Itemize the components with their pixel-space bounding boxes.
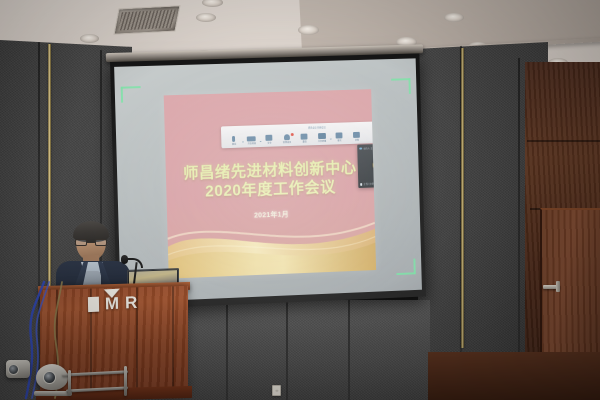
panel-seam <box>286 300 288 400</box>
toolbar-button-record[interactable]: 录制 <box>348 132 365 142</box>
share-screen-icon <box>318 133 326 139</box>
toolbar-button-share-screen[interactable]: 共享屏幕 <box>313 133 330 143</box>
eyeglasses-icon <box>75 239 107 246</box>
toolbar-button-mute[interactable]: 静音 <box>225 136 242 146</box>
participant-tile-header: 主持人 王伟 正在讲话 <box>359 145 376 151</box>
wall-outlet <box>272 385 281 396</box>
ceiling-downlight <box>80 34 99 43</box>
microphone-icon <box>232 136 235 142</box>
participants-icon <box>283 134 289 140</box>
conference-hall-scene: 腾讯会议 快捷会议 静音 开启视频 <box>0 0 600 400</box>
equipment-rail-post <box>124 366 127 396</box>
wall-trim-gold <box>461 48 464 348</box>
equipment-rail-post <box>68 370 71 396</box>
toolbar-label: 安全 <box>267 142 271 145</box>
wood-panel-seam <box>527 140 600 142</box>
camera-lens-icon <box>43 371 56 384</box>
slide-title-block: 师昌绪先进材料创新中心 2020年度工作会议 2021年1月 <box>166 158 375 225</box>
podium-groove <box>172 286 174 398</box>
presentation-slide: 腾讯会议 快捷会议 静音 开启视频 <box>164 89 376 279</box>
record-icon <box>353 132 360 138</box>
ptz-camera-left <box>6 356 36 382</box>
ceiling-vent-left <box>113 5 180 35</box>
toolbar-button-chat[interactable]: 聊天 <box>331 132 348 142</box>
toolbar-label: 邀请 <box>302 140 306 143</box>
toolbar-label: 共享屏幕 <box>318 140 326 143</box>
toolbar-label: 聊天 <box>337 139 341 142</box>
meeting-toolbar[interactable]: 腾讯会议 快捷会议 静音 开启视频 <box>221 120 376 148</box>
screen-surface: 腾讯会议 快捷会议 静音 开启视频 <box>114 58 422 302</box>
room-door[interactable] <box>540 208 600 358</box>
calibration-marker-icon <box>391 78 411 94</box>
door-handle[interactable] <box>543 285 560 289</box>
toolbar-button-invite[interactable]: 邀请 <box>296 133 313 143</box>
invite-icon <box>301 134 308 140</box>
participant-status-label: 主持人 王伟 正在讲话 <box>363 146 376 151</box>
speaking-indicator-icon <box>359 147 361 150</box>
toolbar-label: 静音 <box>232 143 236 146</box>
toolbar-button-participants[interactable]: 管理成员 <box>278 134 295 144</box>
camera-lens-icon <box>8 364 19 375</box>
panel-seam <box>226 300 228 400</box>
ceiling-downlight <box>444 13 464 22</box>
panel-seam <box>348 300 350 400</box>
microphone-icon <box>121 255 128 264</box>
calibration-marker-icon <box>396 259 416 275</box>
toolbar-label: 录制 <box>355 139 359 142</box>
ceiling-downlight <box>298 25 319 35</box>
notification-badge <box>291 133 294 136</box>
shield-icon <box>265 135 272 141</box>
camera-icon <box>247 136 256 142</box>
ceiling-downlight <box>196 13 216 22</box>
panel-seam <box>518 58 520 358</box>
toolbar-label: 开启视频 <box>247 142 255 145</box>
wood-baseboard <box>428 352 600 400</box>
meeting-session-title: 腾讯会议 快捷会议 <box>308 125 326 130</box>
toolbar-label: 管理成员 <box>282 141 290 144</box>
toolbar-button-video[interactable]: 开启视频 <box>243 136 260 146</box>
calibration-marker-icon <box>121 86 141 103</box>
toolbar-button-security[interactable]: 安全 <box>260 135 277 145</box>
chat-icon <box>336 132 343 138</box>
